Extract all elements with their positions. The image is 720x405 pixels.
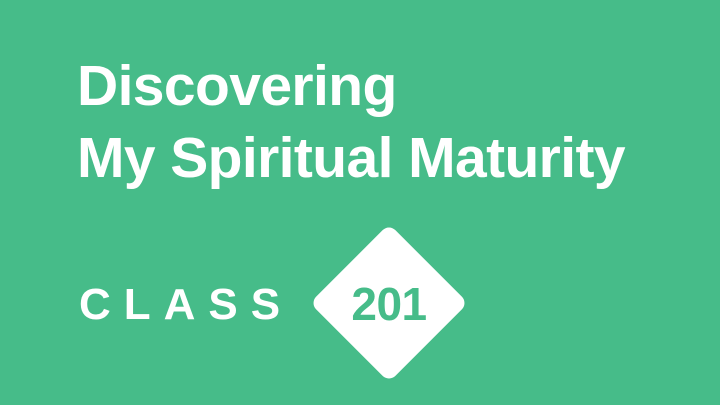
title-line-1: Discovering (77, 50, 677, 122)
title-line-2: My Spiritual Maturity (77, 122, 677, 194)
class-label: CLASS (79, 283, 293, 327)
title-block: Discovering My Spiritual Maturity (77, 50, 677, 194)
class-number-label: 201 (310, 224, 468, 382)
class-number-badge: 201 (310, 224, 468, 382)
title-card-slide: Discovering My Spiritual Maturity CLASS … (0, 0, 720, 405)
class-badge-row: CLASS 201 (0, 215, 720, 405)
